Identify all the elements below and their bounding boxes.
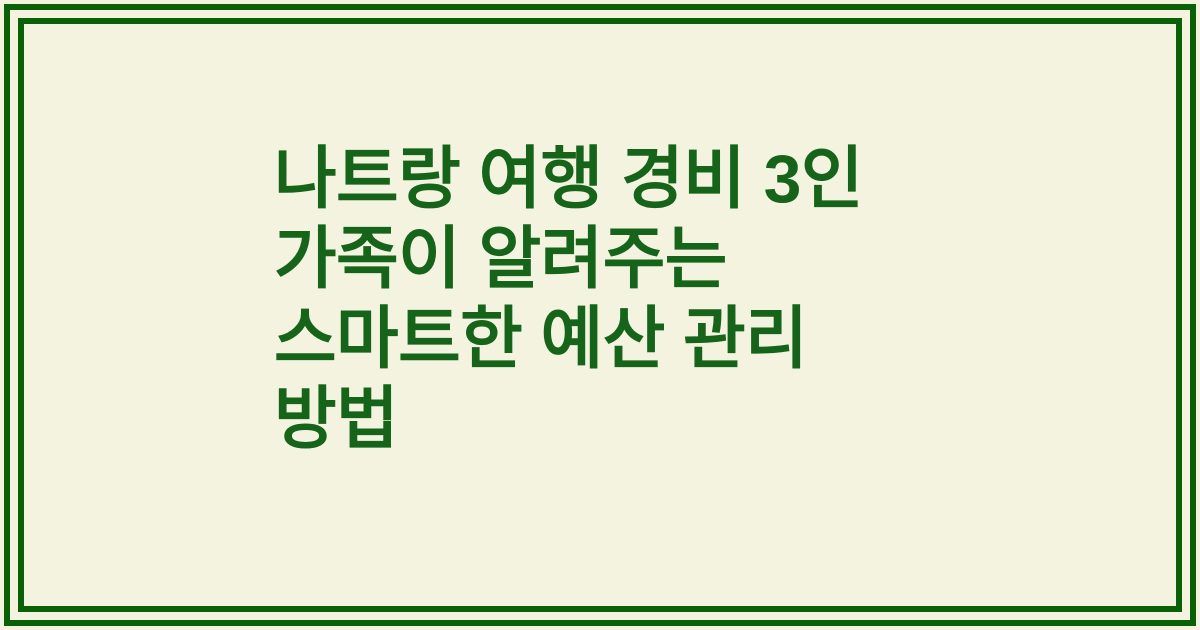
headline-line-1: 나트랑 여행 경비 3인 <box>274 139 954 219</box>
headline: 나트랑 여행 경비 3인 가족이 알려주는 스마트한 예산 관리 방법 <box>274 139 954 459</box>
headline-line-2: 가족이 알려주는 <box>274 219 954 299</box>
headline-line-4: 방법 <box>274 379 954 459</box>
headline-line-3: 스마트한 예산 관리 <box>274 299 954 379</box>
banner-card: 나트랑 여행 경비 3인 가족이 알려주는 스마트한 예산 관리 방법 <box>0 0 1200 630</box>
